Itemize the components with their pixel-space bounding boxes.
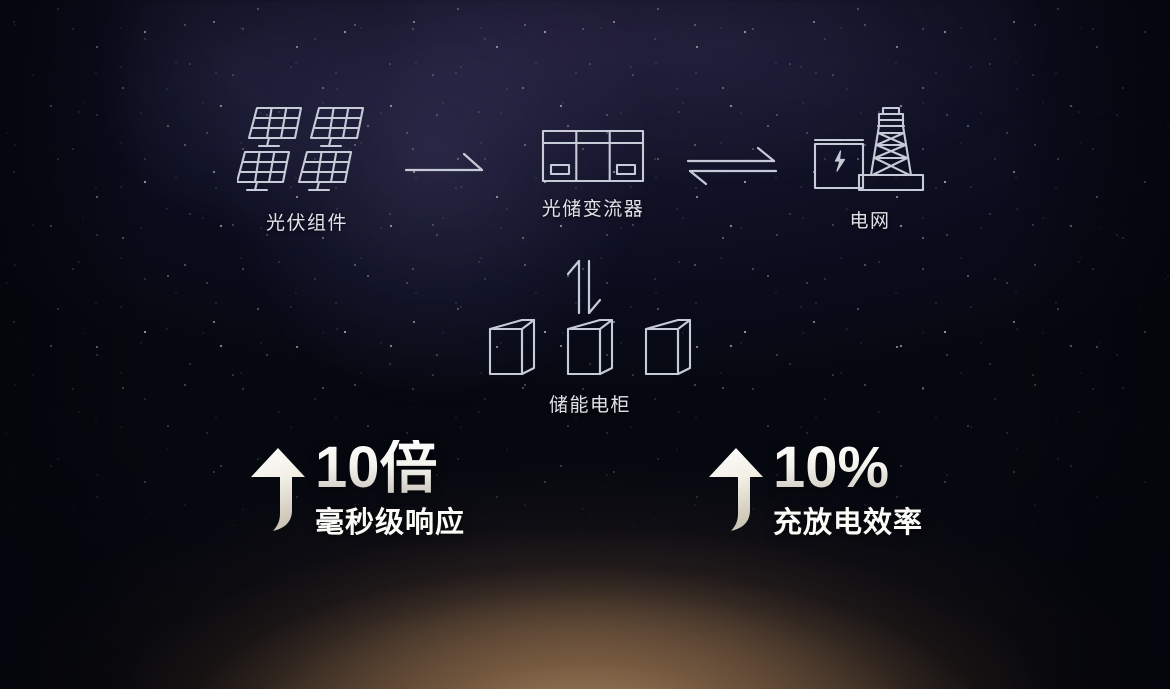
connector-inverter-to-storage [562, 257, 608, 322]
highlight-stats-row: 10倍 毫秒级响应 10% 充放电效率 [0, 440, 1170, 541]
solar-panel-array-icon [237, 100, 377, 200]
diagram-node-storage-label: 储能电柜 [470, 390, 710, 417]
diagram-node-pv[interactable]: 光伏组件 [196, 100, 418, 235]
scene-canvas: 光伏组件 光储变流器 [0, 0, 1170, 689]
stat-efficiency-value: 10% [773, 440, 889, 497]
diagram-node-inverter-label: 光储变流器 [475, 194, 711, 221]
stat-response-value: 10倍 [315, 440, 438, 497]
arrow-bidirectional-vertical-icon [562, 257, 608, 317]
arrow-bidirectional-horizontal-icon [684, 144, 780, 188]
system-diagram: 光伏组件 光储变流器 [0, 0, 1170, 689]
connector-inverter-to-grid [684, 144, 780, 193]
battery-cabinet-icon [486, 316, 694, 382]
diagram-node-pv-label: 光伏组件 [196, 208, 418, 235]
stat-response-caption: 毫秒级响应 [315, 499, 465, 541]
diagram-node-storage[interactable]: 储能电柜 [470, 316, 710, 417]
diagram-node-grid[interactable]: 电网 [790, 100, 950, 233]
arrow-up-curved-icon [247, 446, 309, 532]
stat-response-text: 10倍 毫秒级响应 [315, 440, 465, 541]
diagram-node-inverter[interactable]: 光储变流器 [475, 128, 711, 221]
diagram-node-grid-label: 电网 [790, 206, 950, 233]
stat-efficiency[interactable]: 10% 充放电效率 [705, 440, 923, 541]
power-grid-tower-icon [811, 100, 929, 198]
stat-efficiency-caption: 充放电效率 [773, 499, 923, 541]
pcs-inverter-icon [541, 128, 645, 186]
stat-response[interactable]: 10倍 毫秒级响应 [247, 440, 465, 541]
stat-efficiency-text: 10% 充放电效率 [773, 440, 923, 541]
arrow-up-curved-icon [705, 446, 767, 532]
